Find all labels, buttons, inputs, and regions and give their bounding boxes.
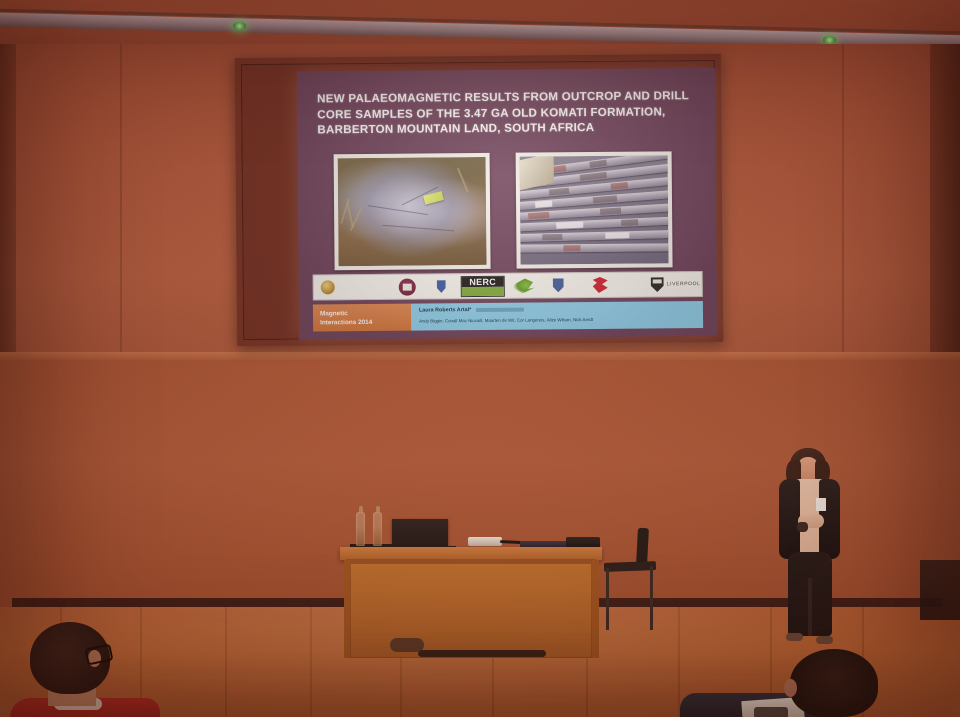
slide-title: NEW PALAEOMAGNETIC RESULTS FROM OUTCROP … xyxy=(317,88,695,138)
audience-right-paper-shadow xyxy=(754,707,788,717)
floor-cables xyxy=(418,650,546,657)
laptop xyxy=(392,519,448,549)
coauthors: Andy Biggin, Conall Mac Niocaill, Maarte… xyxy=(419,315,703,324)
audience-right-hair xyxy=(790,649,878,717)
outcrop-image xyxy=(338,157,487,266)
led-indicator-right-icon xyxy=(823,36,836,44)
water-bottle-2 xyxy=(373,512,382,546)
presenter-leg-separation xyxy=(808,578,812,636)
led-indicator-left-icon xyxy=(233,22,246,30)
chair-seat xyxy=(604,561,656,572)
audience-member-right xyxy=(680,645,960,717)
liverpool-logo-label: LIVERPOOL xyxy=(667,282,701,287)
screen-surround: NEW PALAEOMAGNETIC RESULTS FROM OUTCROP … xyxy=(241,60,717,340)
nerc-logo-label: NERC xyxy=(462,276,504,287)
event-name-line2: Interactions 2014 xyxy=(320,318,411,328)
chair-leg-2 xyxy=(650,566,653,630)
sponsor-logo-strip: NERC L xyxy=(313,271,703,300)
drill-core-image xyxy=(520,155,669,264)
desk-leg-right xyxy=(592,560,599,658)
gold-roundel-logo-icon xyxy=(321,277,384,298)
presenter-shoe-right xyxy=(816,636,833,644)
lecture-hall-photo: NEW PALAEOMAGNETIC RESULTS FROM OUTCROP … xyxy=(0,0,960,717)
slide-footer: Magnetic Interactions 2014 Laura Roberts… xyxy=(313,301,703,331)
presenter-name-badge xyxy=(816,498,826,511)
red-star-university-logo-icon xyxy=(593,275,644,295)
presenter xyxy=(770,448,850,648)
water-bottle-1 xyxy=(356,512,365,546)
outcrop-photo xyxy=(334,153,491,270)
chair-backrest xyxy=(636,528,649,566)
nerc-logo-icon: NERC xyxy=(461,276,505,296)
projected-slide: NEW PALAEOMAGNETIC RESULTS FROM OUTCROP … xyxy=(297,68,717,340)
event-badge: Magnetic Interactions 2014 xyxy=(313,304,411,332)
blue-shield-logo-icon xyxy=(437,276,446,296)
maroon-roundel-logo-icon xyxy=(399,277,416,297)
drill-core-photo xyxy=(516,151,673,268)
presenter-hand-holding-clicker xyxy=(797,522,808,532)
liverpool-logo-icon: LIVERPOOL xyxy=(651,274,701,294)
chair-leg-1 xyxy=(606,568,609,630)
presenter-cardigan-left xyxy=(779,479,800,559)
projector-remote xyxy=(468,537,502,546)
blue-crest-logo-icon xyxy=(553,275,564,295)
audience-member-left xyxy=(10,614,140,717)
green-leaf-logo-icon xyxy=(513,276,535,296)
audience-right-ear xyxy=(784,679,797,697)
chair-right-edge xyxy=(920,560,960,620)
presenter-shoe-left xyxy=(786,633,803,641)
projection-screen: NEW PALAEOMAGNETIC RESULTS FROM OUTCROP … xyxy=(235,54,723,346)
audience-right-shoe xyxy=(390,638,424,652)
author-email-redacted xyxy=(476,307,524,311)
presenter-desk-front xyxy=(350,563,592,658)
author-block: Laura Roberts Artal* Andy Biggin, Conall… xyxy=(411,301,703,331)
presenting-author: Laura Roberts Artal* xyxy=(419,307,471,313)
